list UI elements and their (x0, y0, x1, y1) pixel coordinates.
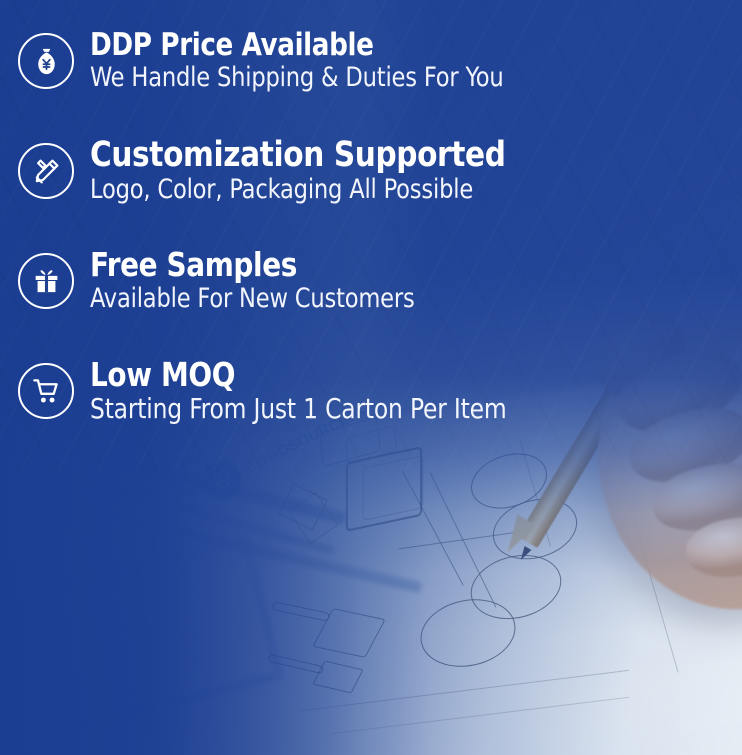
feature-list: DDP Price Available We Handle Shipping &… (0, 0, 742, 446)
shopping-cart-icon (18, 363, 74, 419)
feature-title: Free Samples (90, 248, 418, 282)
feature-item-free-samples[interactable]: Free Samples Available For New Customers (0, 226, 742, 336)
feature-text-block: Customization Supported Logo, Color, Pac… (90, 137, 532, 205)
design-tools-icon (18, 143, 74, 199)
feature-title: DDP Price Available (90, 29, 508, 61)
feature-title: Low MOQ (90, 358, 511, 392)
feature-subtitle: Starting From Just 1 Carton Per Item (90, 393, 506, 424)
feature-subtitle: Available For New Customers (90, 284, 415, 314)
feature-title: Customization Supported (90, 137, 506, 173)
money-bag-icon (18, 33, 74, 89)
feature-item-ddp-price[interactable]: DDP Price Available We Handle Shipping &… (0, 6, 742, 116)
feature-text-block: Low MOQ Starting From Just 1 Carton Per … (90, 358, 538, 425)
feature-item-low-moq[interactable]: Low MOQ Starting From Just 1 Carton Per … (0, 336, 742, 446)
feature-item-customization[interactable]: Customization Supported Logo, Color, Pac… (0, 116, 742, 226)
promo-banner: GOGOSOURCING DDP Price Available We Hand… (0, 0, 742, 755)
gift-box-icon (18, 253, 74, 309)
feature-subtitle: Logo, Color, Packaging All Possible (90, 175, 501, 205)
feature-text-block: Free Samples Available For New Customers (90, 248, 439, 314)
feature-text-block: DDP Price Available We Handle Shipping &… (90, 29, 535, 92)
feature-subtitle: We Handle Shipping & Duties For You (90, 63, 504, 93)
